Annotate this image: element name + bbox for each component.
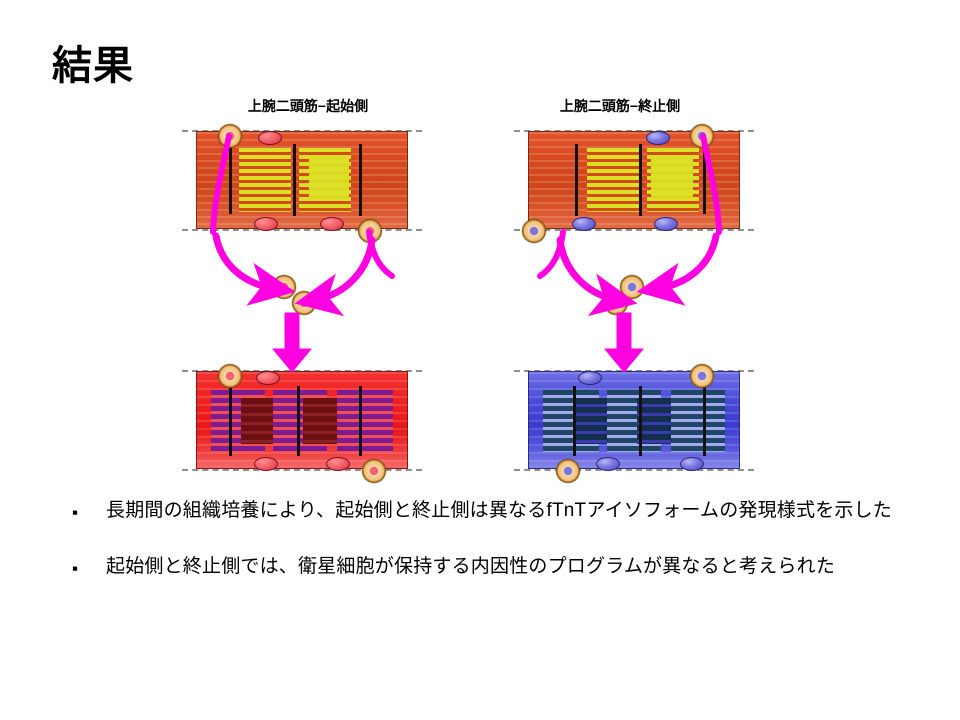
conclusion-bullet-list: ▪ 長期間の組織培養により、起始側と終止側は異なるfTnTアイソフォームの発現様… [66, 498, 906, 610]
satellite-track-line [540, 232, 563, 276]
z-line [703, 148, 706, 214]
myofibril-bundle [671, 390, 725, 452]
z-line [573, 386, 576, 456]
z-line [575, 144, 578, 216]
myonucleus-icon [254, 217, 278, 231]
myofibril-bundle [309, 158, 349, 200]
myonucleus-icon [596, 457, 620, 471]
myonucleus-icon [646, 131, 670, 145]
myonucleus-icon [680, 457, 704, 471]
z-line [359, 386, 362, 456]
satellite-cell-icon [272, 275, 296, 299]
myonucleus-icon [572, 217, 596, 231]
page-title: 結果 [52, 44, 134, 88]
satellite-cell-icon [358, 219, 382, 243]
basal-lamina-line [182, 229, 422, 231]
curved-migration-arrow-icon [660, 236, 716, 288]
list-item: ▪ 長期間の組織培養により、起始側と終止側は異なるfTnTアイソフォームの発現様… [66, 498, 906, 528]
satellite-cell-icon [218, 364, 242, 388]
myonucleus-icon [654, 217, 678, 231]
z-line [297, 386, 300, 456]
panel-label-origin: 上腕二頭筋−起始側 [208, 96, 408, 116]
satellite-cell-icon [218, 124, 242, 148]
myonucleus-icon [256, 371, 280, 385]
myonucleus-icon [326, 457, 350, 471]
basal-lamina-line [182, 469, 422, 471]
myofibril-bundle [239, 148, 291, 212]
satellite-cell-icon [690, 364, 714, 388]
satellite-cell-icon [556, 459, 580, 483]
z-line [229, 148, 232, 214]
satellite-cell-icon [292, 291, 316, 315]
down-arrow-icon [605, 313, 643, 372]
satellite-cell-icon [362, 459, 386, 483]
myofibril-bundle [651, 158, 693, 200]
basal-lamina-line [514, 229, 754, 231]
curved-migration-arrow-icon [318, 240, 372, 299]
myonucleus-icon [258, 131, 282, 145]
myonucleus-icon [254, 457, 278, 471]
z-line [229, 386, 232, 456]
satellite-cell-icon [604, 291, 628, 315]
myofibril-bundle [587, 148, 639, 212]
down-arrow-icon [273, 313, 311, 372]
curved-migration-arrow-icon [560, 240, 614, 299]
satellite-cell-icon [690, 124, 714, 148]
myofibril-bundle [337, 390, 393, 452]
z-line [639, 386, 642, 456]
bullet-marker-icon: ▪ [66, 498, 106, 528]
bullet-text: 起始側と終止側では、衛星細胞が保持する内因性のプログラムが異なると考えられた [106, 554, 906, 580]
bullet-marker-icon: ▪ [66, 554, 106, 584]
curved-migration-arrow-icon [216, 236, 272, 288]
basal-lamina-line [514, 469, 754, 471]
myonucleus-icon [578, 371, 602, 385]
z-line [639, 144, 642, 216]
arrow-overlay [0, 0, 960, 720]
panel-label-insertion: 上腕二頭筋−終止側 [520, 96, 720, 116]
z-line [293, 144, 296, 216]
z-line [359, 144, 362, 216]
z-line [703, 386, 706, 456]
list-item: ▪ 起始側と終止側では、衛星細胞が保持する内因性のプログラムが異なると考えられた [66, 554, 906, 584]
bullet-text: 長期間の組織培養により、起始側と終止側は異なるfTnTアイソフォームの発現様式を… [106, 498, 906, 524]
slide-canvas: 結果 上腕二頭筋−起始側 上腕二頭筋−終止側 [0, 0, 960, 720]
myonucleus-icon [320, 217, 344, 231]
satellite-cell-icon [522, 219, 546, 243]
